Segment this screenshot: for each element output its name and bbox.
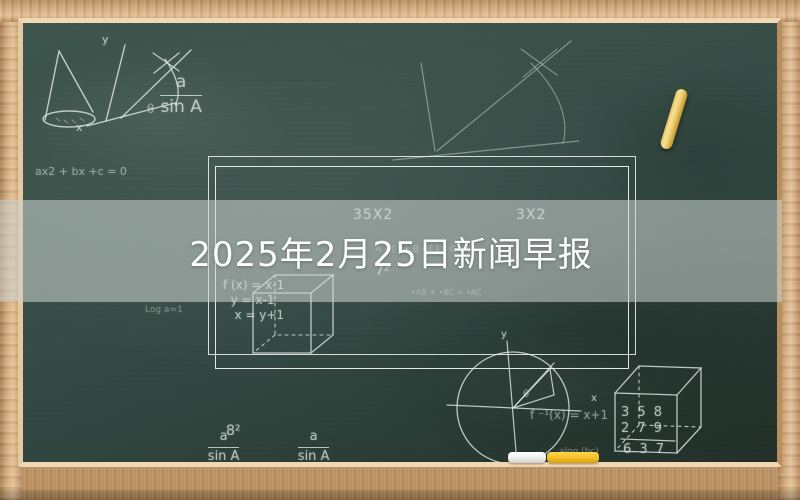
chalk-angle-theta-right: θ	[523, 389, 529, 402]
chalk-addition-row-2: 2 7 9	[621, 421, 664, 437]
chalk-log-expression: Log a=1	[145, 305, 183, 316]
chalk-stick-yellow	[547, 452, 599, 463]
chalk-angle-theta: θ	[147, 102, 154, 117]
chalk-stick-white	[508, 452, 546, 463]
chalk-circle-axis-label-x: x	[591, 393, 597, 406]
chalkboard-thumbnail: asin A y x θ ax2 + bx +c = 0 f (x) = x-1…	[0, 0, 800, 500]
title-overlay-band: 2025年2月25日新闻早报	[0, 200, 782, 302]
chalk-fraction-a-sinA-bottomleft: asin A	[183, 413, 239, 462]
wood-frame-bottom-ledge	[0, 463, 800, 500]
chalk-fraction-a-sinA-bottomcenter: asin A	[273, 413, 329, 462]
page-title: 2025年2月25日新闻早报	[189, 227, 592, 276]
chalk-addition-sum: 6 3 7	[623, 442, 666, 458]
chalk-quadratic-equation: ax2 + bx +c = 0	[35, 165, 127, 179]
chalk-axis-label-y: y	[102, 33, 109, 47]
ledge-shadow	[0, 490, 800, 500]
chalk-fraction-a-sinA-topleft: asin A	[128, 51, 202, 139]
chalk-addition-row-1: 3 5 8	[621, 405, 664, 421]
chalk-inverse-function: f ⁻¹(x) = x+1	[530, 408, 608, 423]
chalk-axis-label-x: x	[76, 121, 83, 135]
